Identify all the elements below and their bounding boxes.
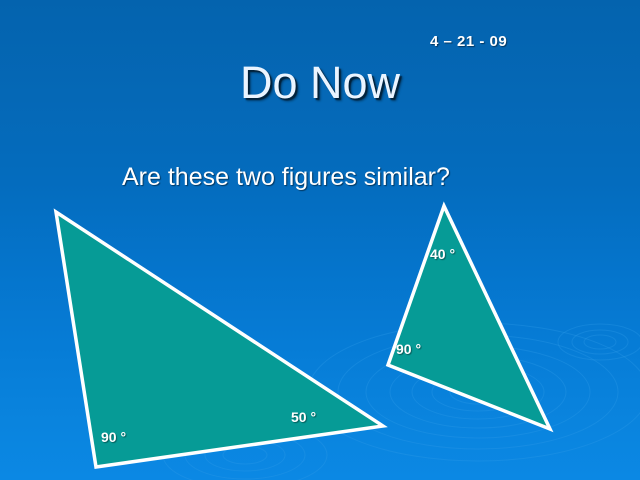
small-triangle-angle-40: 40 ° [430,246,455,262]
large-triangle-angle-50: 50 ° [291,409,316,425]
slide-canvas: 4 – 21 - 09 Do Now Are these two figures… [0,0,640,480]
small-triangle-angle-90: 90 ° [396,341,421,357]
small-triangle [388,206,550,429]
large-triangle-angle-90: 90 ° [101,429,126,445]
figure-group [0,0,640,480]
